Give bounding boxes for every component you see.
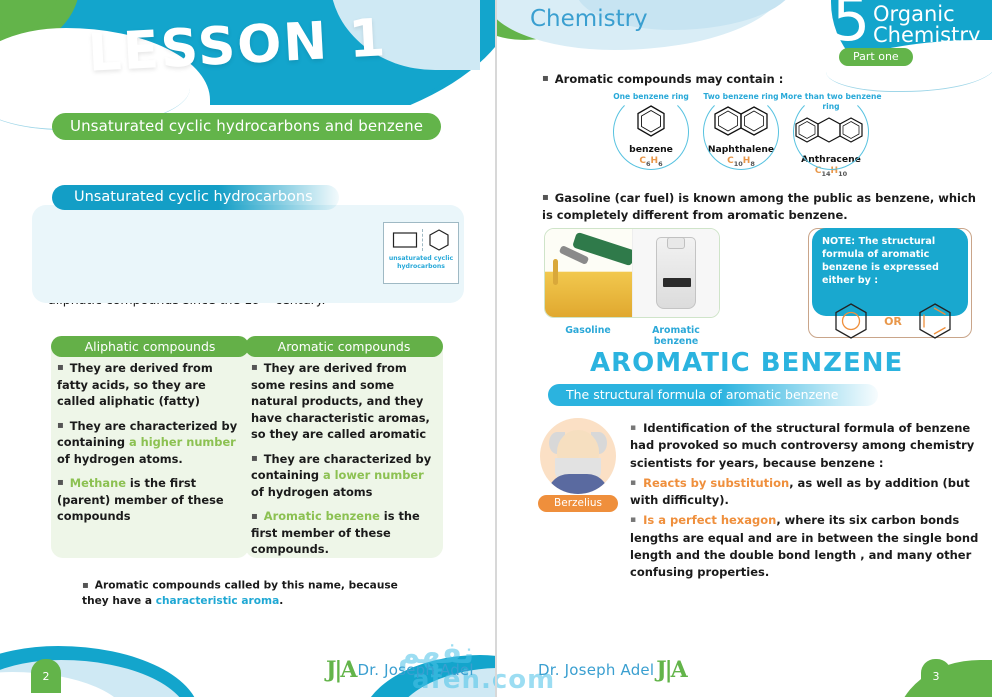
aliphatic-column-body: They are derived from fatty acids, so th… [57,360,243,533]
structural-formula-banner: The structural formula of aromatic benze… [548,384,878,406]
ring-group-anthracene: More than two benzene ring Anthracene C1… [776,92,886,178]
footer-pale-blob [0,660,190,697]
page-number-left: 2 [31,659,61,693]
ja-logo-icon: J|A [326,657,355,683]
diagram-caption-line1: unsaturated cyclic [389,255,453,262]
author-credit-left: J|A Dr. Joseph Adel [326,657,474,683]
footer-teal-blob [0,646,200,697]
gasoline-line: Gasoline (car fuel) is known among the p… [542,190,982,224]
note-hexagons: OR [818,300,968,342]
hexagon-shape-icon [427,228,451,252]
diagram-divider [422,229,423,251]
caption-aromatic-benzene: Aromatic benzene [632,325,720,347]
photo-captions: Gasoline Aromatic benzene [544,325,720,347]
item-highlight: Methane [70,476,126,490]
benzene-circle-hexagon-icon [832,301,870,341]
unit-title: Organic Chemistry [873,4,980,46]
list-item: They are derived from some resins and so… [251,360,437,443]
berzelius-points: Identification of the structural formula… [630,420,980,584]
item-text-post: of hydrogen atoms [251,485,372,499]
header-green-circle [0,0,80,46]
berzelius-avatar [540,418,616,494]
left-page: LESSON 1 Unsaturated cyclic hydrocarbons… [0,0,496,697]
gasoline-benzene-photos [544,228,720,318]
point-highlight: Is a perfect hexagon [643,513,776,527]
bottle-label-icon [663,278,691,287]
gasoline-line-text: Gasoline (car fuel) is known among the p… [542,191,976,222]
list-item: They are characterized by containing a l… [251,451,437,501]
item-text: They are derived from fatty acids, so th… [57,361,213,408]
list-item: They are characterized by containing a h… [57,418,243,468]
benzene-bottle-photo [632,229,720,317]
aliphatic-column-header: Aliphatic compounds [51,336,249,357]
unit-title-line2: Chemistry [873,25,980,46]
unit-title-line1: Organic [873,4,980,25]
bullet-icon [251,509,264,523]
ring-arc-decoration [613,94,689,170]
item-text: They are derived from some resins and so… [251,361,430,441]
bullet-icon [57,361,70,375]
list-item: Aromatic benzene is the first member of … [251,508,437,558]
point-highlight: Reacts by substitution [643,476,789,490]
scientist-name-badge: Berzelius [538,495,618,512]
bottle-stopper-icon [667,237,685,249]
bullet-icon [57,419,70,433]
subject-title: Chemistry [530,6,648,32]
ring-arc-decoration [793,94,869,170]
caption-gasoline: Gasoline [544,325,632,347]
section-tag-unsaturated: Unsaturated cyclic hydrocarbons [52,185,339,210]
diagram-shapes-row [392,228,451,252]
list-item: Methane is the first (parent) member of … [57,475,243,525]
gasoline-photo [545,229,632,317]
diagram-caption: unsaturated cyclic hydrocarbons [389,255,453,271]
bullet-icon [542,191,555,205]
header-green-drip [0,0,60,32]
bullet-icon [57,476,70,490]
bullet-icon [251,452,264,466]
footnote-post: . [279,595,283,607]
formula-c-sub: 14 [821,170,830,178]
fuel-stream-icon [553,259,558,285]
bullet-icon [251,361,264,375]
or-label: OR [884,315,902,328]
note-label: NOTE: [822,236,855,247]
item-highlight: a higher number [129,435,236,449]
author-name: Dr. Joseph Adel [538,661,654,679]
item-highlight: a lower number [323,468,424,482]
point-text: Identification of the structural formula… [630,421,974,470]
diagram-caption-line2: hydrocarbons [397,263,445,270]
lesson-title: LESSON 1 [87,8,389,84]
ring-arc-decoration [703,94,779,170]
aromatic-column-body: They are derived from some resins and so… [251,360,437,566]
formula-h-sub: 10 [838,170,847,178]
list-item: They are derived from fatty acids, so th… [57,360,243,410]
aromatic-column-header: Aromatic compounds [245,336,443,357]
aromatic-benzene-title: AROMATIC BENZENE [590,348,903,378]
unit-number: 5 [832,0,870,50]
rectangle-shape-icon [392,230,418,250]
contain-line: Aromatic compounds may contain : [542,71,783,88]
page-gutter [495,0,497,697]
bullet-icon [542,72,555,86]
unsaturated-diagram-box: unsaturated cyclic hydrocarbons [383,222,459,284]
list-item: Identification of the structural formula… [630,420,980,472]
author-credit-right: Dr. Joseph Adel J|A [538,657,686,683]
list-item: Reacts by substitution, as well as by ad… [630,475,980,510]
book-spread: LESSON 1 Unsaturated cyclic hydrocarbons… [0,0,992,697]
right-page: Chemistry 5 Organic Chemistry Part one A… [496,0,992,697]
item-text-post: of hydrogen atoms. [57,452,183,466]
footnote-highlight: characteristic aroma [156,595,280,607]
bottle-icon [656,237,696,309]
lesson-subtitle: Unsaturated cyclic hydrocarbons and benz… [52,113,441,140]
benzene-kekule-hexagon-icon [916,301,954,341]
ja-logo-icon: J|A [656,657,685,683]
list-item: Is a perfect hexagon, where its six carb… [630,512,980,581]
bullet-icon [82,580,95,592]
part-badge: Part one [839,48,913,66]
contain-line-text: Aromatic compounds may contain : [555,72,784,86]
page-number-right: 3 [921,659,951,693]
body-icon [547,474,609,494]
author-name: Dr. Joseph Adel [357,661,473,679]
aromatic-footnote: Aromatic compounds called by this name, … [82,578,412,610]
item-highlight: Aromatic benzene [264,509,380,523]
footer-white-blob [0,672,130,697]
